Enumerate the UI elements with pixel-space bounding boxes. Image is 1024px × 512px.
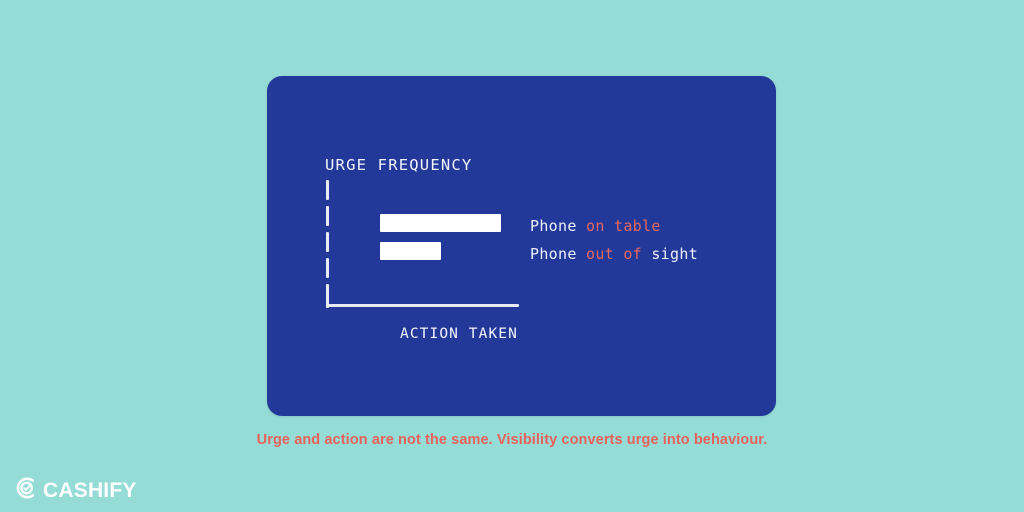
- x-axis-line: [326, 304, 519, 307]
- legend-item-phone-out-of-sight: Phone out of sight: [530, 240, 698, 268]
- chart-card: URGE FREQUENCY ACTION TAKEN Phone on: [267, 76, 776, 416]
- caption-text: Urge and action are not the same. Visibi…: [0, 432, 1024, 448]
- bar-phone-out-of-sight: [380, 242, 441, 260]
- cashify-wordmark: CASHIFY: [43, 480, 137, 501]
- cashify-c-check-icon: [12, 474, 40, 507]
- legend-item-phone-on-table: Phone on table: [530, 212, 698, 240]
- x-axis-label: ACTION TAKEN: [400, 326, 518, 342]
- chart-legend: Phone on table Phone out of sight: [530, 212, 698, 268]
- y-axis-tick-segment: [326, 258, 329, 278]
- legend-label-highlight: on table: [586, 217, 661, 235]
- screenshot-canvas: URGE FREQUENCY ACTION TAKEN Phone on: [0, 0, 1024, 512]
- urge-frequency-bar-chart: URGE FREQUENCY ACTION TAKEN Phone on: [267, 76, 776, 416]
- bar-phone-on-table: [380, 214, 501, 232]
- y-axis-tick-segment: [326, 180, 329, 200]
- legend-label-highlight: out of: [586, 245, 651, 263]
- cashify-logo: CASHIFY: [12, 474, 137, 507]
- y-axis-tick-segment: [326, 232, 329, 252]
- y-axis: [326, 180, 330, 308]
- legend-label-prefix: Phone: [530, 217, 586, 235]
- legend-label-prefix: Phone: [530, 245, 586, 263]
- legend-label-suffix: sight: [651, 245, 698, 263]
- chart-title: URGE FREQUENCY: [325, 156, 472, 174]
- y-axis-tick-segment: [326, 206, 329, 226]
